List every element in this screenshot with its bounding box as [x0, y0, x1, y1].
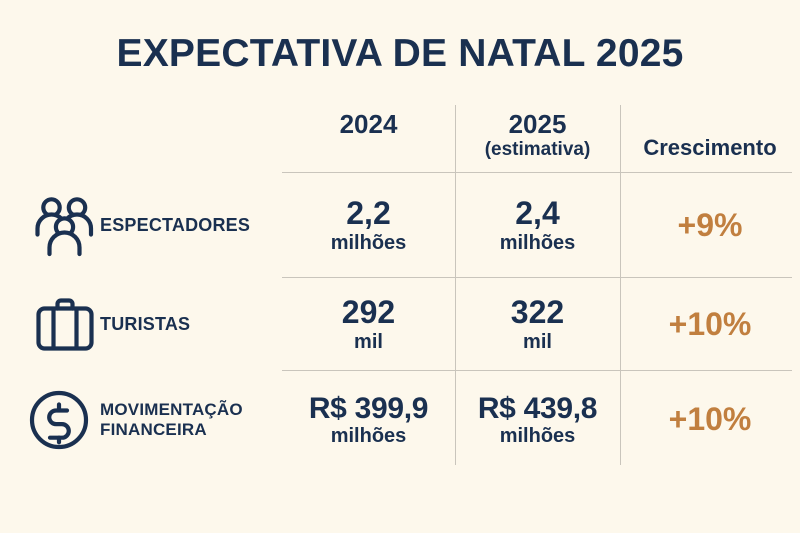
row-label-turistas: TURISTAS — [100, 281, 282, 369]
cell-turistas-2025: 322 mil — [455, 281, 620, 369]
table-row: MOVIMENTAÇÃO FINANCEIRA R$ 399,9 milhões… — [0, 374, 800, 466]
growth-value: +10% — [669, 308, 752, 342]
cell-value: R$ 399,9 — [309, 393, 428, 425]
table-row: TURISTAS 292 mil 322 mil +10% — [0, 281, 800, 369]
column-header-2024: 2024 — [282, 110, 455, 139]
growth-value: +9% — [678, 209, 743, 243]
cell-unit: mil — [354, 332, 383, 353]
table-row: ESPECTADORES 2,2 milhões 2,4 milhões +9% — [0, 176, 800, 276]
row-divider-2 — [282, 277, 792, 278]
cell-turistas-growth: +10% — [620, 281, 800, 369]
cell-movimentacao-2024: R$ 399,9 milhões — [282, 374, 455, 466]
infographic-root: EXPECTATIVA DE NATAL 2025 2024 2025 (est… — [0, 0, 800, 533]
column-header-2025-label: 2025 — [455, 110, 620, 139]
cell-turistas-2024: 292 mil — [282, 281, 455, 369]
cell-espectadores-2025: 2,4 milhões — [455, 176, 620, 276]
cell-movimentacao-2025: R$ 439,8 milhões — [455, 374, 620, 466]
cell-espectadores-growth: +9% — [620, 176, 800, 276]
cell-espectadores-2024: 2,2 milhões — [282, 176, 455, 276]
cell-value: R$ 439,8 — [478, 393, 597, 425]
row-icon-movimentacao-financeira — [22, 374, 96, 466]
row-label-espectadores: ESPECTADORES — [100, 176, 282, 276]
cell-unit: mil — [523, 332, 552, 353]
column-header-2025: 2025 (estimativa) — [455, 110, 620, 160]
dollar-circle-icon — [27, 388, 91, 452]
row-icon-turistas — [28, 281, 102, 369]
column-header-2024-label: 2024 — [282, 110, 455, 139]
row-divider-1 — [282, 172, 792, 173]
row-icon-espectadores — [28, 176, 102, 276]
column-header-growth-label: Crescimento — [620, 136, 800, 161]
cell-value: 2,4 — [515, 197, 559, 231]
cell-unit: milhões — [500, 426, 576, 447]
suitcase-icon — [35, 297, 95, 353]
cell-unit: milhões — [331, 426, 407, 447]
row-divider-3 — [282, 370, 792, 371]
growth-value: +10% — [669, 403, 752, 437]
column-header-2025-sublabel: (estimativa) — [455, 139, 620, 160]
people-group-icon — [34, 195, 96, 257]
cell-unit: milhões — [500, 233, 576, 254]
column-header-growth: Crescimento — [620, 136, 800, 161]
cell-movimentacao-growth: +10% — [620, 374, 800, 466]
row-label-movimentacao-financeira: MOVIMENTAÇÃO FINANCEIRA — [100, 374, 282, 466]
cell-value: 292 — [342, 296, 395, 330]
cell-value: 322 — [511, 296, 564, 330]
cell-unit: milhões — [331, 233, 407, 254]
page-title: EXPECTATIVA DE NATAL 2025 — [0, 32, 800, 76]
cell-value: 2,2 — [346, 197, 390, 231]
